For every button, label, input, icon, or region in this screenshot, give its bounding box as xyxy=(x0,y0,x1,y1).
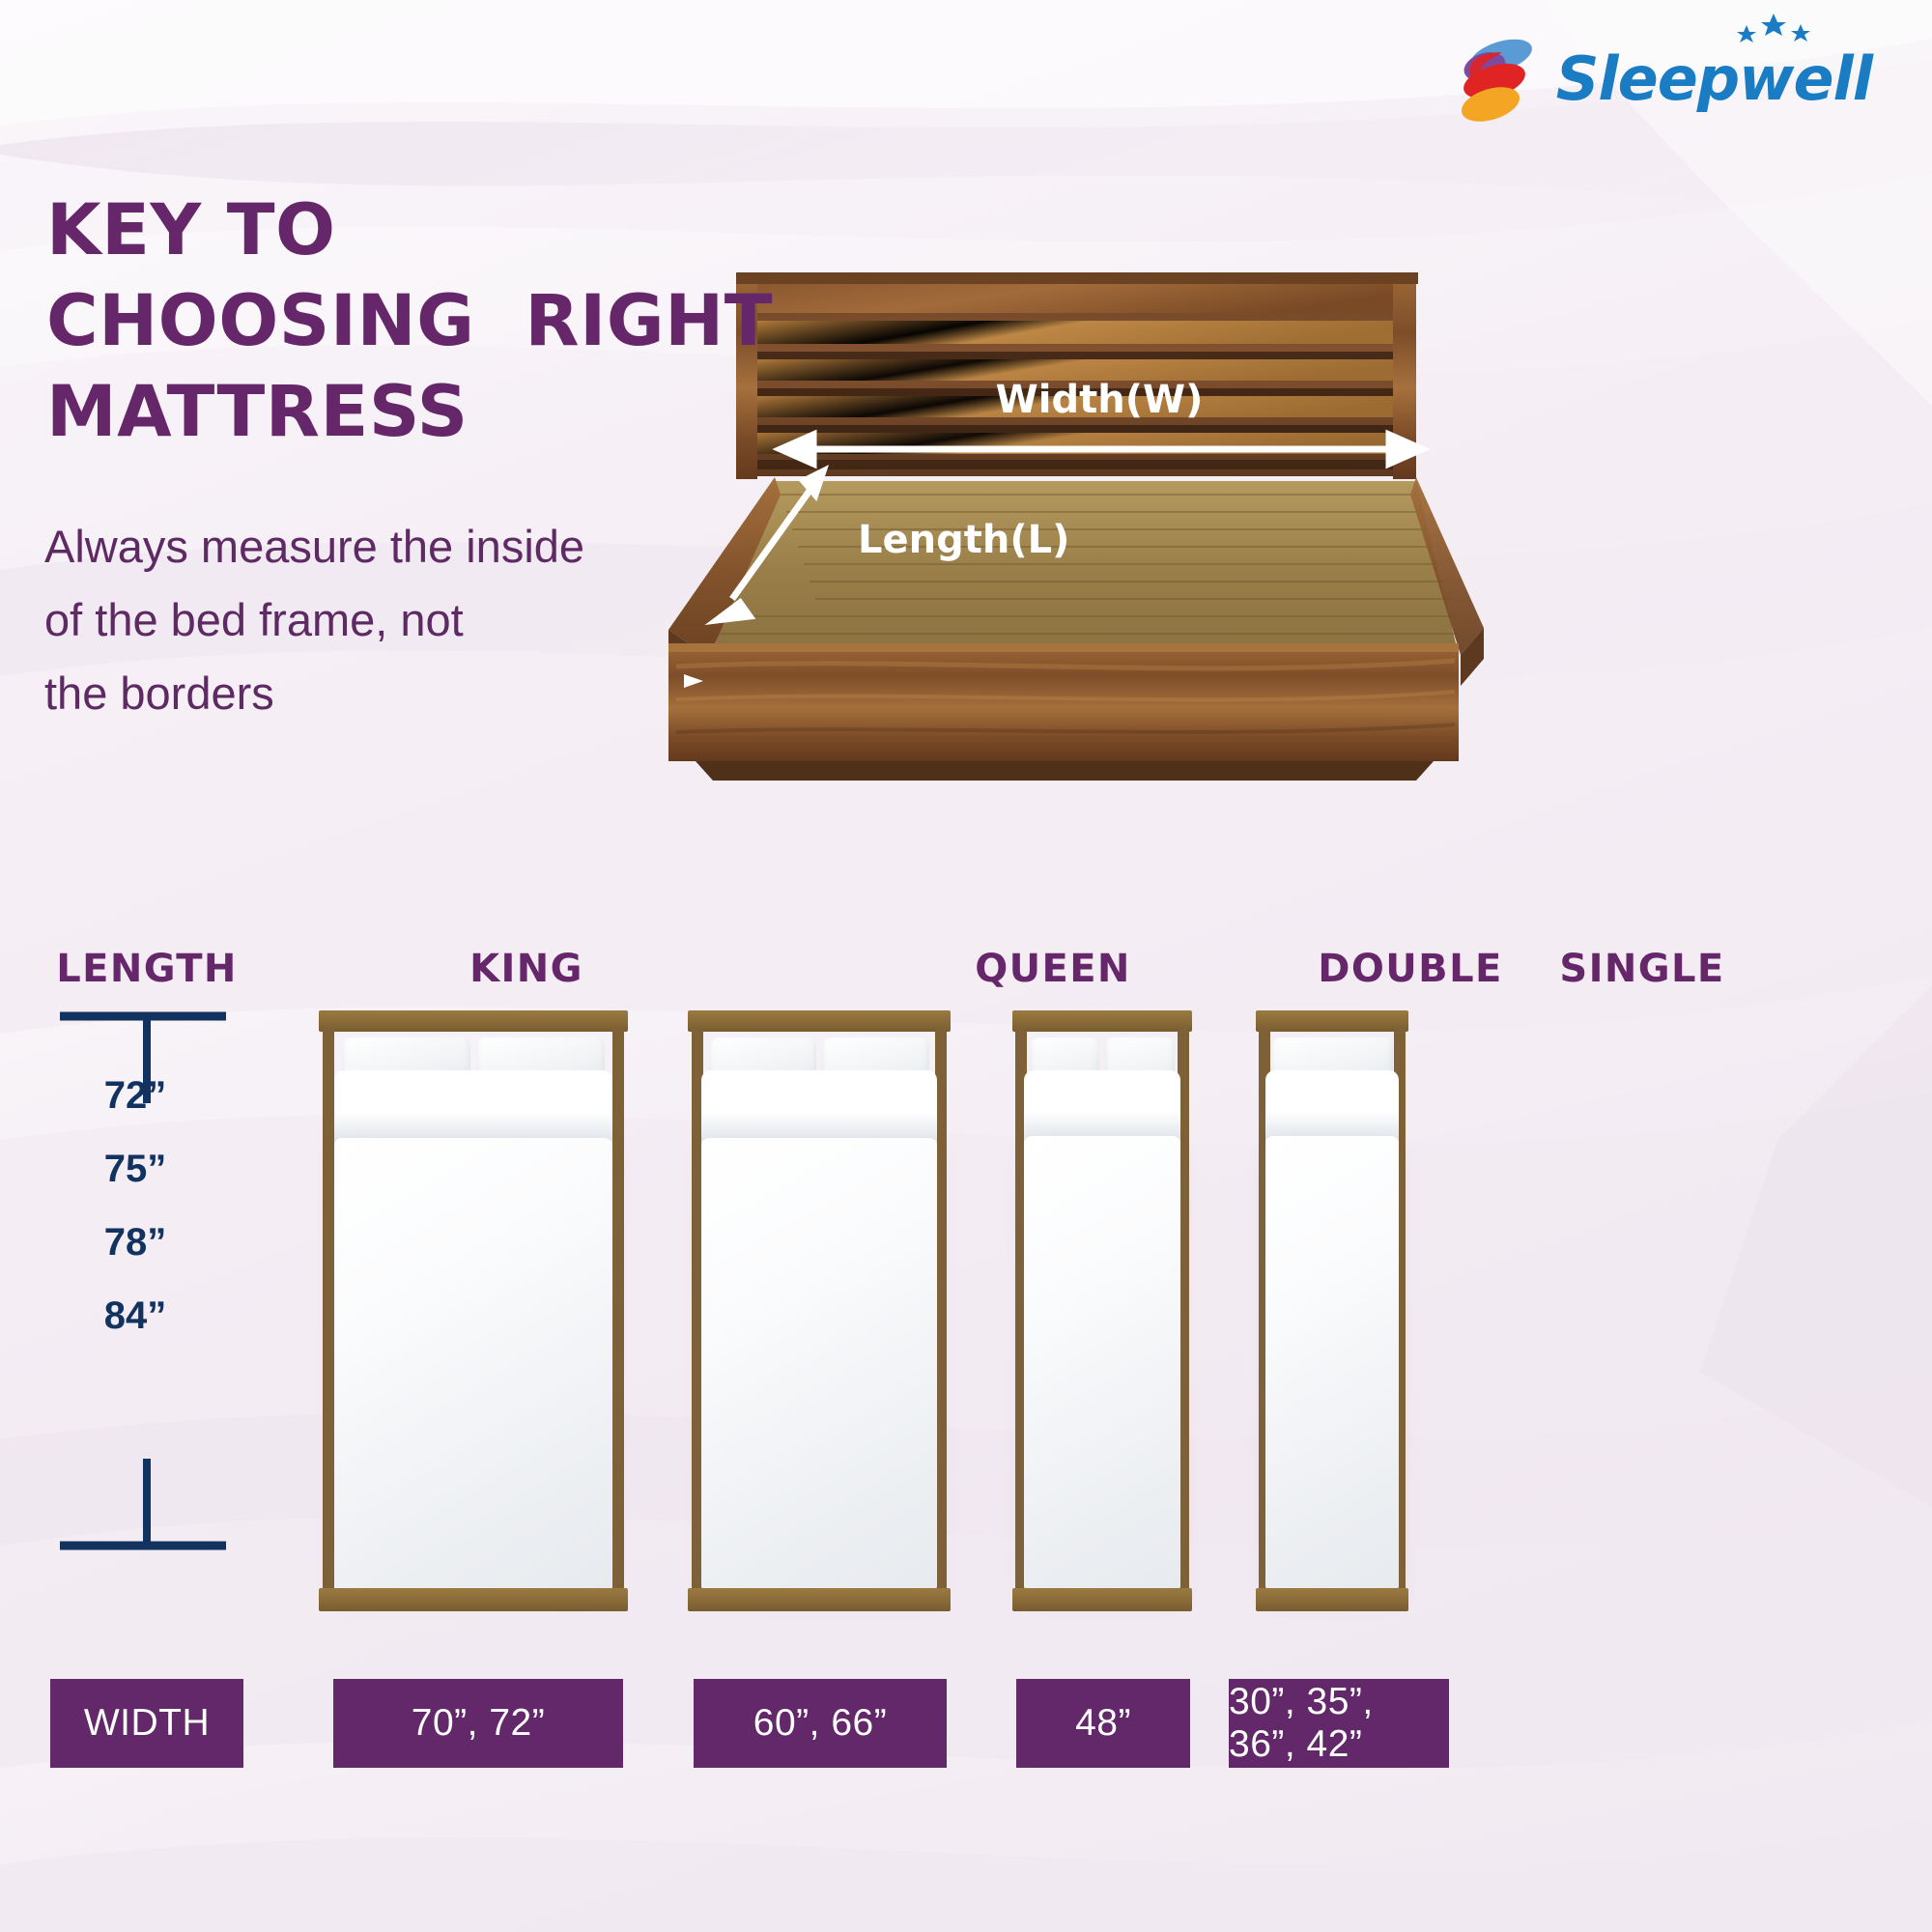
subtitle: Always measure the inside of the bed fra… xyxy=(44,510,584,730)
hero-width-label: Width(W) xyxy=(996,378,1204,422)
column-header-single: SINGLE xyxy=(1449,947,1835,991)
headline-line-3: MATTRESS xyxy=(46,367,773,458)
length-tick-2: 78” xyxy=(77,1221,193,1264)
duvet xyxy=(334,1138,612,1590)
length-tick-3: 84” xyxy=(77,1294,193,1338)
duvet xyxy=(1265,1136,1399,1590)
logo-wordmark: Sleepwell xyxy=(1556,49,1872,109)
subtitle-line-1: Always measure the inside xyxy=(44,510,584,583)
bed-illustration-queen xyxy=(688,1010,951,1621)
duvet xyxy=(701,1138,937,1590)
width-header-box: WIDTH xyxy=(50,1679,243,1768)
bed-illustration-king xyxy=(319,1010,628,1621)
length-tick-0: 72” xyxy=(77,1074,193,1118)
bed-post-left xyxy=(323,1028,334,1594)
bed-illustration-double xyxy=(1012,1010,1192,1621)
bed-post-right xyxy=(612,1028,624,1594)
hero-length-label: Length(L) xyxy=(858,518,1069,562)
headline-line-2: CHOOSING RIGHT xyxy=(46,276,773,367)
bed-illustration-single xyxy=(1256,1010,1408,1621)
subtitle-line-3: the borders xyxy=(44,657,584,730)
sleepwell-s-mark xyxy=(1456,33,1535,126)
bed-footboard xyxy=(319,1588,628,1611)
bed-headboard xyxy=(319,1010,628,1032)
bed-footboard xyxy=(688,1588,951,1611)
headline-line-1: KEY TO xyxy=(46,185,773,276)
width-value-single: 30”, 35”, 36”, 42” xyxy=(1229,1679,1449,1768)
width-value-double: 48” xyxy=(1016,1679,1190,1768)
width-value-king: 70”, 72” xyxy=(333,1679,623,1768)
page-title: KEY TO CHOOSING RIGHT MATTRESS xyxy=(46,185,773,458)
subtitle-line-2: of the bed frame, not xyxy=(44,583,584,657)
size-chart-section: LENGTH 72” 75” 78” 84” KING QUEEN DOUBLE… xyxy=(0,927,1932,1932)
logo-stars-icon xyxy=(1729,12,1816,44)
column-header-king: KING xyxy=(333,947,720,991)
width-value-queen: 60”, 66” xyxy=(694,1679,947,1768)
length-tick-1: 75” xyxy=(77,1148,193,1191)
length-header: LENGTH xyxy=(50,947,243,991)
bed-footboard xyxy=(1012,1588,1192,1611)
column-header-queen: QUEEN xyxy=(860,947,1246,991)
bed-headboard xyxy=(1012,1010,1192,1032)
bed-headboard xyxy=(1256,1010,1408,1032)
brand-logo: Sleepwell xyxy=(1456,33,1872,126)
bed-headboard xyxy=(688,1010,951,1032)
duvet xyxy=(1024,1136,1180,1590)
bed-footboard xyxy=(1256,1588,1408,1611)
